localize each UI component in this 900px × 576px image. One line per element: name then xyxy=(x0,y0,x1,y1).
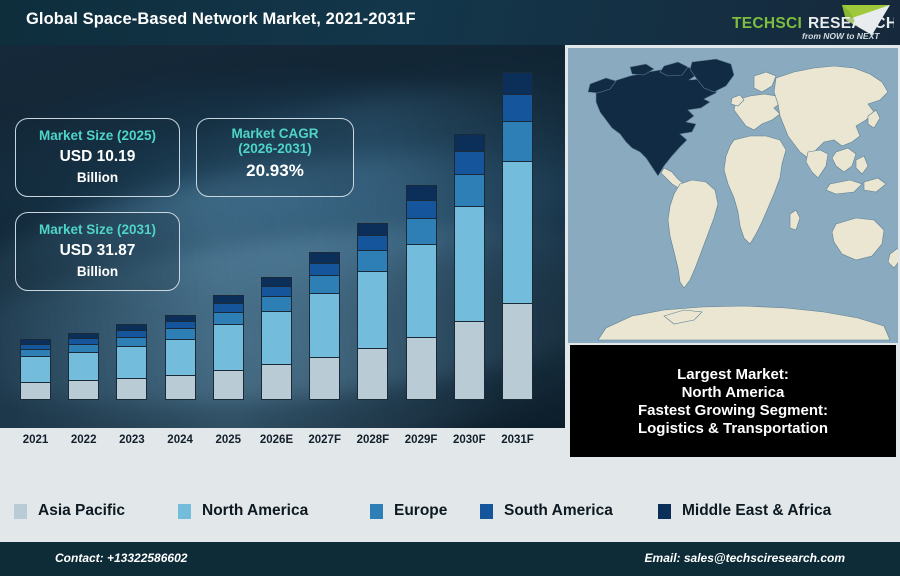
stat-label: Market Size (2025) xyxy=(16,128,179,143)
legend-item-north-america[interactable]: North America xyxy=(178,502,308,520)
x-axis-label-2025: 2025 xyxy=(205,434,251,446)
legend-item-europe[interactable]: Europe xyxy=(370,502,447,520)
fastest-segment-value: Logistics & Transportation xyxy=(638,420,828,437)
bar-segment-south-america xyxy=(309,263,340,275)
bar-2022[interactable] xyxy=(68,333,99,400)
x-axis-label-2027F: 2027F xyxy=(302,434,348,446)
x-axis-label-2028F: 2028F xyxy=(350,434,396,446)
bar-segment-asia-pacific xyxy=(406,337,437,400)
bar-segment-north-america xyxy=(261,311,292,364)
bar-2025[interactable] xyxy=(213,295,244,400)
svg-text:from NOW to NEXT: from NOW to NEXT xyxy=(802,31,880,41)
legend-item-asia-pacific[interactable]: Asia Pacific xyxy=(14,502,125,520)
legend-swatch xyxy=(480,504,493,519)
stat-label: Market Size (2031) xyxy=(16,222,179,237)
bar-2023[interactable] xyxy=(116,324,147,400)
bar-segment-europe xyxy=(261,296,292,311)
bar-segment-south-america xyxy=(261,286,292,296)
bar-2021[interactable] xyxy=(20,339,51,400)
bar-segment-south-america xyxy=(165,321,196,328)
bar-segment-south-america xyxy=(502,94,533,122)
legend-label: Europe xyxy=(394,502,447,520)
legend-item-middle-east-africa[interactable]: Middle East & Africa xyxy=(658,502,831,520)
x-axis-label-2024: 2024 xyxy=(157,434,203,446)
legend-label: South America xyxy=(504,502,613,520)
footer-contact: Contact: +13322586602 xyxy=(55,551,187,565)
stat-card-market-size-2025: Market Size (2025) USD 10.19 Billion xyxy=(15,118,180,197)
stat-value: USD 10.19 xyxy=(16,148,179,166)
bar-segment-north-america xyxy=(357,271,388,348)
x-axis-label-2023: 2023 xyxy=(109,434,155,446)
chart-legend: Asia PacificNorth AmericaEuropeSouth Ame… xyxy=(0,488,900,534)
bar-segment-north-america xyxy=(454,206,485,322)
logo-icon: TECHSCI RESEARCH from NOW to NEXT xyxy=(724,2,894,43)
bar-segment-europe xyxy=(454,174,485,206)
bar-2027F[interactable] xyxy=(309,252,340,400)
bar-segment-north-america xyxy=(213,324,244,369)
page-title: Global Space-Based Network Market, 2021-… xyxy=(26,10,416,29)
legend-swatch xyxy=(178,504,191,519)
bar-2024[interactable] xyxy=(165,315,196,400)
svg-text:RESEARCH: RESEARCH xyxy=(808,15,894,32)
svg-text:TECHSCI: TECHSCI xyxy=(732,15,802,32)
x-axis-label-2026E: 2026E xyxy=(254,434,300,446)
bar-segment-middle-east-africa xyxy=(357,223,388,235)
bar-segment-middle-east-africa xyxy=(406,185,437,200)
bar-segment-europe xyxy=(357,250,388,271)
legend-label: North America xyxy=(202,502,308,520)
bar-segment-asia-pacific xyxy=(68,380,99,400)
stat-unit: Billion xyxy=(16,170,179,185)
x-axis-label-2022: 2022 xyxy=(61,434,107,446)
bar-2030F[interactable] xyxy=(454,134,485,401)
bar-segment-north-america xyxy=(68,352,99,381)
stat-label-line1: Market CAGR xyxy=(197,126,353,141)
bar-segment-south-america xyxy=(454,151,485,173)
x-axis: 202120222023202420252026E2027F2028F2029F… xyxy=(0,428,565,458)
bar-segment-middle-east-africa xyxy=(261,277,292,286)
x-axis-label-2031F: 2031F xyxy=(495,434,541,446)
world-map xyxy=(568,48,898,343)
bar-segment-europe xyxy=(20,349,51,356)
stat-card-market-size-2031: Market Size (2031) USD 31.87 Billion xyxy=(15,212,180,291)
bar-segment-asia-pacific xyxy=(357,348,388,400)
bar-segment-north-america xyxy=(116,346,147,378)
legend-swatch xyxy=(14,504,27,519)
bar-2028F[interactable] xyxy=(357,223,388,400)
largest-market-label: Largest Market: xyxy=(677,366,789,383)
bar-segment-asia-pacific xyxy=(165,375,196,400)
bar-segment-asia-pacific xyxy=(261,364,292,400)
world-map-svg xyxy=(568,48,898,343)
legend-swatch xyxy=(370,504,383,519)
bar-segment-north-america xyxy=(309,293,340,357)
legend-item-south-america[interactable]: South America xyxy=(480,502,613,520)
bar-segment-middle-east-africa xyxy=(213,295,244,303)
bar-segment-south-america xyxy=(406,200,437,218)
bar-segment-europe xyxy=(68,344,99,352)
bar-segment-asia-pacific xyxy=(116,378,147,400)
bar-segment-asia-pacific xyxy=(309,357,340,400)
bar-segment-europe xyxy=(309,275,340,293)
x-axis-label-2029F: 2029F xyxy=(398,434,444,446)
bar-segment-south-america xyxy=(357,235,388,250)
largest-market-value: North America xyxy=(682,384,785,401)
stat-unit: Billion xyxy=(16,264,179,279)
x-axis-label-2021: 2021 xyxy=(13,434,59,446)
fastest-segment-label: Fastest Growing Segment: xyxy=(638,402,828,419)
bar-2026E[interactable] xyxy=(261,277,292,400)
bar-segment-north-america xyxy=(406,244,437,337)
stat-value: USD 31.87 xyxy=(16,242,179,260)
stat-label-line2: (2026-2031) xyxy=(197,141,353,156)
techsci-research-logo: TECHSCI RESEARCH from NOW to NEXT xyxy=(724,2,894,43)
bar-segment-middle-east-africa xyxy=(309,252,340,262)
bar-segment-middle-east-africa xyxy=(502,72,533,94)
bar-segment-south-america xyxy=(213,303,244,312)
legend-swatch xyxy=(658,504,671,519)
footer-email: Email: sales@techsciresearch.com xyxy=(645,551,845,565)
bar-segment-asia-pacific xyxy=(20,382,51,400)
stat-card-market-cagr: Market CAGR (2026-2031) 20.93% xyxy=(196,118,354,197)
x-axis-label-2030F: 2030F xyxy=(446,434,492,446)
bar-segment-north-america xyxy=(20,356,51,382)
bar-2031F[interactable] xyxy=(502,72,533,400)
bar-segment-europe xyxy=(165,328,196,338)
infographic-page: Global Space-Based Network Market, 2021-… xyxy=(0,0,900,576)
bar-segment-asia-pacific xyxy=(213,370,244,400)
bar-segment-north-america xyxy=(502,161,533,304)
bar-segment-middle-east-africa xyxy=(454,134,485,152)
bar-segment-north-america xyxy=(165,339,196,376)
bar-segment-asia-pacific xyxy=(502,303,533,400)
stat-value: 20.93% xyxy=(197,161,353,181)
bar-segment-europe xyxy=(502,121,533,160)
bar-2029F[interactable] xyxy=(406,185,437,400)
chart-panel: Market Size (2025) USD 10.19 Billion Mar… xyxy=(0,45,565,458)
legend-label: Middle East & Africa xyxy=(682,502,831,520)
header-bar: Global Space-Based Network Market, 2021-… xyxy=(0,0,900,45)
legend-label: Asia Pacific xyxy=(38,502,125,520)
bar-segment-europe xyxy=(116,337,147,346)
bar-segment-asia-pacific xyxy=(454,321,485,400)
bar-segment-europe xyxy=(406,218,437,244)
highlights-info-box: Largest Market: North America Fastest Gr… xyxy=(570,345,896,457)
bar-segment-europe xyxy=(213,312,244,325)
footer-bar: Contact: +13322586602 Email: sales@techs… xyxy=(0,542,900,576)
